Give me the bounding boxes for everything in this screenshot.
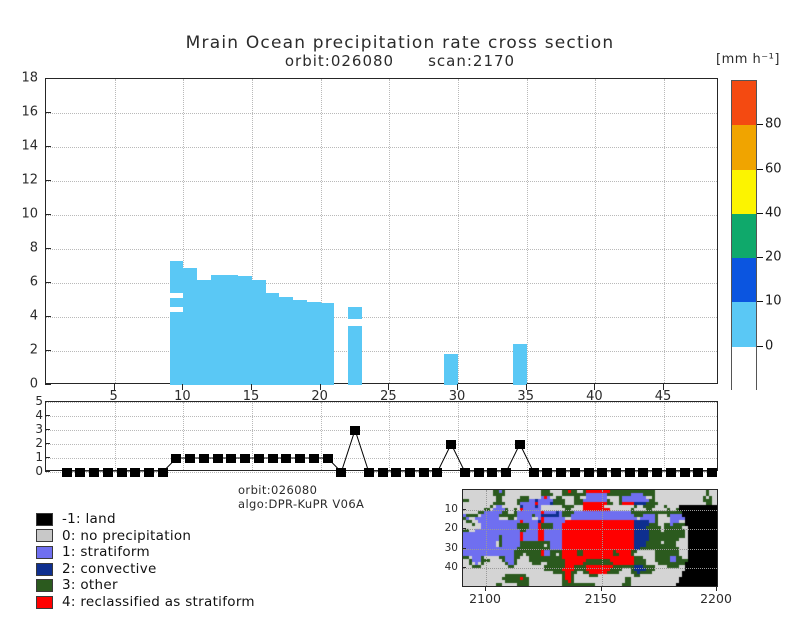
swath-map-canvas — [463, 490, 717, 586]
legend-item: -1: land — [36, 511, 255, 528]
classification-marker — [693, 468, 703, 477]
classification-marker — [350, 426, 360, 435]
classification-marker — [117, 468, 127, 477]
legend-label: 2: convective — [62, 561, 157, 578]
colorbar-tick-mark — [757, 124, 763, 125]
classification-marker — [295, 454, 305, 463]
colorbar-tick-label: 60 — [765, 161, 782, 176]
y-axis-tick-mark — [45, 180, 51, 181]
classification-y-tick-mark — [45, 457, 50, 458]
title-orbit: orbit:026080 — [285, 52, 394, 70]
colorbar-band — [732, 81, 756, 125]
classification-marker — [226, 454, 236, 463]
colorbar-band — [732, 347, 756, 391]
map-x-tick-label: 2100 — [469, 591, 501, 606]
y-axis-tick-mark — [45, 282, 51, 283]
classification-marker — [171, 454, 181, 463]
colorbar — [731, 80, 757, 390]
legend-label: -1: land — [62, 511, 116, 528]
bar-segment — [238, 276, 252, 385]
classification-marker — [666, 468, 676, 477]
classification-marker — [446, 440, 456, 449]
classification-marker — [652, 468, 662, 477]
legend-item: 0: no precipitation — [36, 528, 255, 545]
metadata-algo: algo:DPR-KuPR V06A — [238, 497, 364, 511]
colorbar-tick-label: 20 — [765, 250, 782, 265]
legend-item: 2: convective — [36, 561, 255, 578]
bar-segment — [444, 354, 458, 385]
y-axis-tick-label: 2 — [4, 343, 38, 358]
classification-plot-frame — [45, 401, 718, 471]
classification-marker — [597, 468, 607, 477]
bar-segment — [348, 307, 362, 319]
classification-marker — [556, 468, 566, 477]
colorbar-band — [732, 214, 756, 258]
bar-segment — [225, 275, 239, 386]
classification-y-tick-mark — [45, 401, 50, 402]
swath-overview-map — [462, 489, 718, 587]
classification-y-tick-label: 2 — [17, 436, 43, 450]
y-axis-tick-label: 14 — [4, 139, 38, 154]
map-gridline-vertical — [717, 490, 718, 586]
classification-marker — [62, 468, 72, 477]
gridline-horizontal — [46, 147, 717, 148]
legend-swatch — [36, 563, 53, 576]
classification-marker — [501, 468, 511, 477]
classification-marker — [515, 440, 525, 449]
legend-swatch — [36, 513, 53, 526]
map-y-tick-label: 30 — [436, 542, 458, 554]
title-scan: scan:2170 — [428, 52, 515, 70]
colorbar-tick-label: 0 — [765, 338, 773, 353]
classification-marker — [542, 468, 552, 477]
legend-label: 4: reclassified as stratiform — [62, 594, 255, 611]
y-axis-tick-mark — [45, 214, 51, 215]
legend-item: 3: other — [36, 577, 255, 594]
gridline-vertical — [458, 79, 459, 383]
classification-marker — [378, 468, 388, 477]
colorbar-tick-mark — [757, 346, 763, 347]
classification-marker — [364, 468, 374, 477]
title-subline: orbit:026080scan:2170 — [0, 52, 800, 70]
classification-marker — [75, 468, 85, 477]
classification-y-tick-label: 5 — [17, 394, 43, 408]
bar-segment — [266, 293, 280, 385]
y-axis-tick-label: 10 — [4, 207, 38, 222]
classification-marker — [529, 468, 539, 477]
legend-swatch — [36, 529, 53, 542]
classification-marker — [405, 468, 415, 477]
classification-marker — [103, 468, 113, 477]
legend-item: 4: reclassified as stratiform — [36, 594, 255, 611]
classification-marker — [584, 468, 594, 477]
bar-segment — [293, 300, 307, 385]
colorbar-tick-label: 80 — [765, 117, 782, 132]
gridline-horizontal — [46, 181, 717, 182]
map-y-tick-mark — [462, 567, 466, 568]
classification-marker — [130, 468, 140, 477]
classification-y-tick-label: 4 — [17, 408, 43, 422]
classification-marker — [158, 468, 168, 477]
classification-marker — [570, 468, 580, 477]
bar-segment — [170, 261, 184, 293]
bar-segment — [170, 312, 184, 385]
map-y-tick-mark — [462, 548, 466, 549]
map-gridline-horizontal — [463, 529, 717, 530]
classification-marker — [323, 454, 333, 463]
y-axis-tick-mark — [45, 146, 51, 147]
legend-item: 1: stratiform — [36, 544, 255, 561]
classification-marker — [419, 468, 429, 477]
classification-y-tick-mark — [45, 443, 50, 444]
y-axis-tick-label: 8 — [4, 241, 38, 256]
classification-marker — [460, 468, 470, 477]
map-gridline-horizontal — [463, 568, 717, 569]
colorbar-tick-label: 40 — [765, 205, 782, 220]
colorbar-tick-mark — [757, 257, 763, 258]
gridline-vertical — [527, 79, 528, 383]
gridline-vertical — [664, 79, 665, 383]
main-plot-y-axis: 024681012141618 — [0, 78, 38, 384]
classification-marker — [199, 454, 209, 463]
classification-y-tick-mark — [45, 415, 50, 416]
classification-y-tick-mark — [45, 429, 50, 430]
classification-marker — [432, 468, 442, 477]
map-x-tick-label: 2200 — [700, 591, 732, 606]
classification-marker — [240, 454, 250, 463]
classification-marker — [474, 468, 484, 477]
y-axis-tick-mark — [45, 78, 51, 79]
classification-marker — [213, 454, 223, 463]
y-axis-tick-mark — [45, 248, 51, 249]
legend-swatch — [36, 546, 53, 559]
page-title: Mrain Ocean precipitation rate cross sec… — [0, 33, 800, 53]
y-axis-tick-label: 16 — [4, 105, 38, 120]
legend-swatch — [36, 596, 53, 609]
gridline-vertical — [595, 79, 596, 383]
classification-marker — [144, 468, 154, 477]
y-axis-tick-label: 18 — [4, 71, 38, 86]
y-axis-tick-label: 0 — [4, 377, 38, 392]
map-y-tick-mark — [462, 509, 466, 510]
classification-marker — [268, 454, 278, 463]
legend-label: 3: other — [62, 577, 118, 594]
colorbar-tick-mark — [757, 213, 763, 214]
classification-marker — [487, 468, 497, 477]
legend-label: 1: stratiform — [62, 544, 150, 561]
bar-segment — [321, 303, 335, 385]
colorbar-band — [732, 302, 756, 346]
classification-y-axis: 012345 — [15, 401, 43, 471]
gridline-horizontal — [46, 351, 717, 352]
bar-segment — [211, 275, 225, 386]
map-y-tick-label: 40 — [436, 561, 458, 573]
classification-marker — [391, 468, 401, 477]
classification-marker — [680, 468, 690, 477]
y-axis-tick-mark — [45, 112, 51, 113]
classification-marker — [611, 468, 621, 477]
map-x-tick-label: 2150 — [585, 591, 617, 606]
gridline-vertical — [115, 79, 116, 383]
colorbar-unit-label: [mm h⁻¹] — [716, 52, 800, 67]
classification-marker — [625, 468, 635, 477]
gridline-horizontal — [46, 283, 717, 284]
colorbar-tick-label: 10 — [765, 294, 782, 309]
map-gridline-horizontal — [463, 510, 717, 511]
y-axis-tick-mark — [45, 350, 51, 351]
y-axis-tick-label: 6 — [4, 275, 38, 290]
gridline-horizontal — [46, 317, 717, 318]
bar-segment — [513, 344, 527, 385]
y-axis-tick-label: 12 — [4, 173, 38, 188]
gridline-vertical — [389, 79, 390, 383]
map-gridline-vertical — [486, 490, 487, 586]
bar-segment — [170, 298, 184, 307]
colorbar-tick-mark — [757, 301, 763, 302]
legend-swatch — [36, 579, 53, 592]
map-gridline-horizontal — [463, 549, 717, 550]
classification-y-tick-label: 1 — [17, 450, 43, 464]
classification-marker — [336, 468, 346, 477]
classification-legend: -1: land0: no precipitation1: stratiform… — [36, 511, 255, 611]
classification-y-tick-mark — [45, 471, 50, 472]
classification-y-tick-label: 0 — [17, 464, 43, 478]
classification-marker — [638, 468, 648, 477]
map-gridline-vertical — [602, 490, 603, 586]
bar-segment — [197, 280, 211, 385]
classification-marker — [89, 468, 99, 477]
bar-segment — [307, 302, 321, 385]
bar-segment — [183, 268, 197, 385]
classification-marker — [707, 468, 717, 477]
metadata-orbit: orbit:026080 — [238, 483, 364, 497]
map-y-tick-label: 20 — [436, 522, 458, 534]
y-axis-tick-mark — [45, 316, 51, 317]
classification-marker — [185, 454, 195, 463]
bar-segment — [252, 280, 266, 385]
legend-label: 0: no precipitation — [62, 528, 191, 545]
gridline-horizontal — [46, 249, 717, 250]
gridline-horizontal — [46, 215, 717, 216]
metadata-block: orbit:026080 algo:DPR-KuPR V06A — [238, 483, 364, 511]
bar-segment — [279, 297, 293, 385]
map-y-tick-mark — [462, 528, 466, 529]
main-plot-frame — [45, 78, 718, 384]
classification-y-tick-label: 3 — [17, 422, 43, 436]
classification-marker — [281, 454, 291, 463]
classification-marker — [309, 454, 319, 463]
bar-segment — [348, 326, 362, 386]
colorbar-tick-mark — [757, 169, 763, 170]
gridline-horizontal — [46, 113, 717, 114]
colorbar-band — [732, 125, 756, 169]
colorbar-band — [732, 258, 756, 302]
map-y-tick-label: 10 — [436, 503, 458, 515]
colorbar-band — [732, 170, 756, 214]
y-axis-tick-label: 4 — [4, 309, 38, 324]
classification-marker — [254, 454, 264, 463]
classification-connector-lines — [46, 402, 719, 472]
y-axis-tick-mark — [45, 384, 51, 385]
